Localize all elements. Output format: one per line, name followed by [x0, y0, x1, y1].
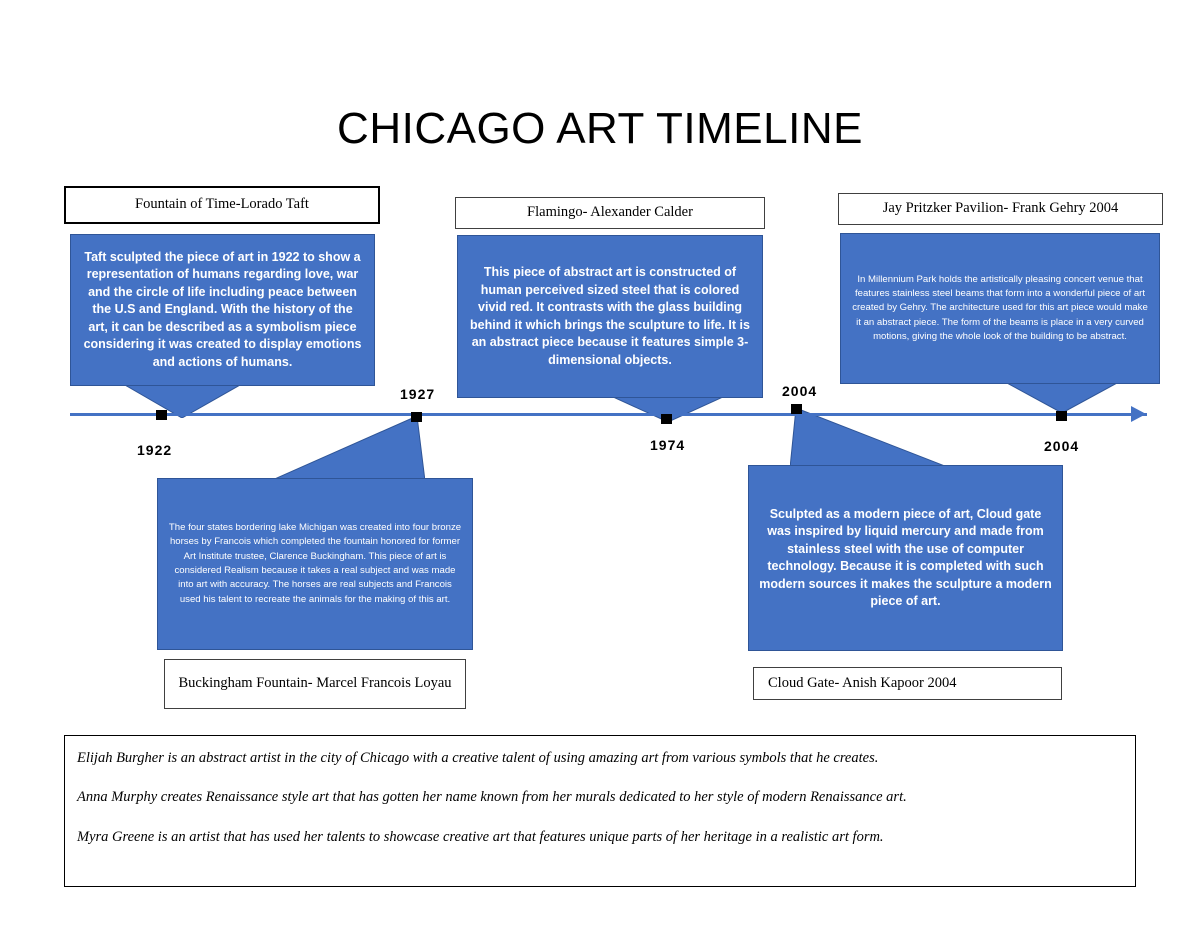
artist-notes-box: Elijah Burgher is an abstract artist in … — [64, 735, 1136, 887]
caption-text: Flamingo- Alexander Calder — [527, 203, 693, 223]
caption-text: Cloud Gate- Anish Kapoor 2004 — [768, 674, 956, 694]
callout-body: Taft sculpted the piece of art in 1922 t… — [81, 249, 364, 372]
timeline-marker-2004-cloud-gate[interactable] — [791, 404, 802, 414]
callout-fountain-of-time: Taft sculpted the piece of art in 1922 t… — [70, 234, 375, 386]
year-label-1974: 1974 — [650, 437, 685, 453]
caption-cloud-gate: Cloud Gate- Anish Kapoor 2004 — [753, 667, 1062, 700]
callout-body: Sculpted as a modern piece of art, Cloud… — [759, 506, 1052, 611]
caption-text: Fountain of Time-Lorado Taft — [135, 195, 309, 215]
caption-buckingham-fountain: Buckingham Fountain- Marcel Francois Loy… — [164, 659, 466, 709]
year-label-2004-cloud-gate: 2004 — [782, 383, 817, 399]
year-label-1922: 1922 — [137, 442, 172, 458]
callout-cloud-gate: Sculpted as a modern piece of art, Cloud… — [748, 465, 1063, 651]
year-label-2004-pritzker: 2004 — [1044, 438, 1079, 454]
year-label-1927: 1927 — [400, 386, 435, 402]
timeline-marker-1922[interactable] — [156, 410, 167, 420]
timeline-arrowhead-icon — [1131, 406, 1146, 422]
note-line: Myra Greene is an artist that has used h… — [77, 829, 1123, 846]
callout-flamingo: This piece of abstract art is constructe… — [457, 235, 763, 398]
pointer-buckingham-fountain — [270, 416, 425, 481]
caption-flamingo: Flamingo- Alexander Calder — [455, 197, 765, 229]
timeline-marker-1974[interactable] — [661, 414, 672, 424]
page-title: CHICAGO ART TIMELINE — [0, 104, 1200, 154]
pointer-jay-pritzker-pavilion — [1007, 383, 1117, 413]
note-line: Elijah Burgher is an abstract artist in … — [77, 750, 1123, 767]
callout-body: The four states bordering lake Michigan … — [168, 521, 462, 607]
timeline-infographic: CHICAGO ART TIMELINE Fountain of Time-Lo… — [0, 0, 1200, 927]
callout-body: This piece of abstract art is constructe… — [468, 264, 752, 369]
timeline-axis — [70, 413, 1147, 416]
caption-text: Buckingham Fountain- Marcel Francois Loy… — [178, 674, 451, 694]
caption-jay-pritzker-pavilion: Jay Pritzker Pavilion- Frank Gehry 2004 — [838, 193, 1163, 225]
timeline-marker-2004-pritzker[interactable] — [1056, 411, 1067, 421]
callout-body: In Millennium Park holds the artisticall… — [851, 273, 1149, 345]
callout-jay-pritzker-pavilion: In Millennium Park holds the artisticall… — [840, 233, 1160, 384]
timeline-marker-1927[interactable] — [411, 412, 422, 422]
pointer-cloud-gate — [790, 408, 950, 468]
note-line: Anna Murphy creates Renaissance style ar… — [77, 789, 1123, 806]
caption-fountain-of-time: Fountain of Time-Lorado Taft — [64, 186, 380, 224]
caption-text: Jay Pritzker Pavilion- Frank Gehry 2004 — [883, 199, 1119, 219]
callout-buckingham-fountain: The four states bordering lake Michigan … — [157, 478, 473, 650]
